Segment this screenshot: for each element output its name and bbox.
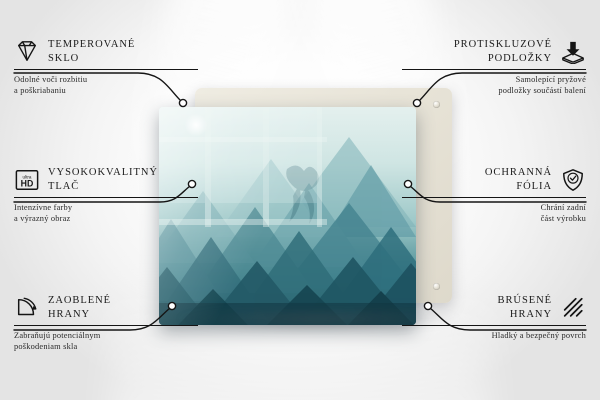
feature-divider xyxy=(14,69,198,70)
polished-edge-icon xyxy=(560,296,586,320)
ultra-hd-icon: ultra HD xyxy=(14,168,40,192)
diamond-icon xyxy=(14,40,40,64)
feature-title-line-1: VYSOKOKVALITNÝ xyxy=(48,166,158,180)
feature-divider xyxy=(14,197,198,198)
feature-title-line-2: HRANY xyxy=(48,308,111,322)
feature-header: ZAOBLENÉ HRANY xyxy=(14,294,198,321)
feature-header: PROTISKLUZOVÉ PODLOŽKY xyxy=(402,38,586,65)
feature-subtitle-line-1: Intenzívne farby xyxy=(14,202,198,213)
rounded-corner-icon xyxy=(14,296,40,320)
feature-title-line-1: ZAOBLENÉ xyxy=(48,294,111,308)
infographic-canvas: TEMPEROVANÉ SKLO Odolné voči rozbitiu a … xyxy=(0,0,600,400)
feature-protective-film: OCHRANNÁ FÓLIA Chrání zadní část výrobku xyxy=(402,166,586,225)
feature-title-line-2: HRANY xyxy=(498,308,553,322)
feature-title-line-2: PODLOŽKY xyxy=(454,52,552,66)
feature-title-line-1: TEMPEROVANÉ xyxy=(48,38,135,52)
feature-header: BRÚSENÉ HRANY xyxy=(402,294,586,321)
feature-header: TEMPEROVANÉ SKLO xyxy=(14,38,198,65)
feature-subtitle-line-1: Odolné voči rozbitiu xyxy=(14,74,198,85)
feature-subtitle-line-1: Zabraňujú potenciálnym xyxy=(14,330,198,341)
shield-check-icon xyxy=(560,168,586,192)
feature-subtitle-line-1: Samolepící pryžové xyxy=(402,74,586,85)
feature-tempered-glass: TEMPEROVANÉ SKLO Odolné voči rozbitiu a … xyxy=(14,38,198,97)
mounting-screw-icon xyxy=(433,283,440,290)
feature-subtitle-line-1: Chrání zadní xyxy=(402,202,586,213)
feature-subtitle-line-2: poškodeniam skla xyxy=(14,341,198,352)
feature-high-quality-print: ultra HD VYSOKOKVALITNÝ TLAČ Intenzívne … xyxy=(14,166,198,225)
feature-subtitle-line-2: a výrazný obraz xyxy=(14,213,198,224)
ultra-hd-icon-label-bottom: HD xyxy=(21,178,34,188)
feature-subtitle-line-1: Hladký a bezpečný povrch xyxy=(402,330,586,341)
feature-header: OCHRANNÁ FÓLIA xyxy=(402,166,586,193)
feature-header: ultra HD VYSOKOKVALITNÝ TLAČ xyxy=(14,166,198,193)
feature-divider xyxy=(402,69,586,70)
feature-divider xyxy=(402,325,586,326)
feature-title-line-1: OCHRANNÁ xyxy=(485,166,552,180)
feature-divider xyxy=(14,325,198,326)
feature-subtitle-line-2: podložky součástí balení xyxy=(402,85,586,96)
feature-divider xyxy=(402,197,586,198)
feature-title-line-1: BRÚSENÉ xyxy=(498,294,553,308)
feature-anti-slip-pads: PROTISKLUZOVÉ PODLOŽKY Samolepící pryžov… xyxy=(402,38,586,97)
feature-subtitle-line-2: část výrobku xyxy=(402,213,586,224)
feature-title-line-2: FÓLIA xyxy=(485,180,552,194)
feature-title-line-2: TLAČ xyxy=(48,180,158,194)
feature-rounded-edges: ZAOBLENÉ HRANY Zabraňujú potenciálnym po… xyxy=(14,294,198,353)
feature-title-line-1: PROTISKLUZOVÉ xyxy=(454,38,552,52)
mounting-screw-icon xyxy=(433,101,440,108)
feature-title-line-2: SKLO xyxy=(48,52,135,66)
feature-polished-edges: BRÚSENÉ HRANY Hladký a bezpečný povrch xyxy=(402,294,586,341)
feature-subtitle-line-2: a poškriabaniu xyxy=(14,85,198,96)
anti-slip-pad-icon xyxy=(560,40,586,64)
